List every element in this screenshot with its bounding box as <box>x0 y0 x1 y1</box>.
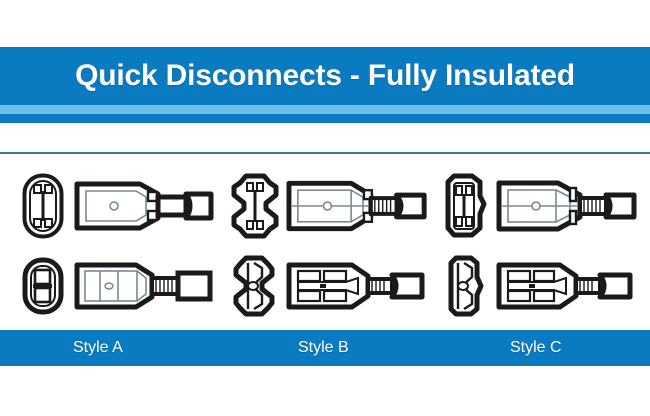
style-label-b: Style B <box>298 330 349 366</box>
figure-row-c-male <box>438 168 648 244</box>
style-column-c <box>438 154 648 330</box>
male-spade-side-view-icon <box>286 170 436 242</box>
figure-row-a-male <box>16 168 226 244</box>
oval-end-view-female-icon <box>16 250 70 322</box>
flanged-end-view-male-icon <box>438 170 492 242</box>
male-spade-side-view-icon <box>74 170 224 242</box>
figure-grid <box>0 154 650 330</box>
figure-row-b-male <box>228 168 438 244</box>
oval-end-view-male-icon <box>16 170 70 242</box>
waisted-end-view-female-icon <box>228 250 282 322</box>
footer-whitespace <box>0 366 650 416</box>
style-column-a <box>16 154 226 330</box>
figure-row-c-female <box>438 248 648 324</box>
style-column-b <box>228 154 438 330</box>
male-spade-side-view-icon <box>496 170 646 242</box>
header-stripe-dark <box>0 114 650 123</box>
style-label-c: Style C <box>510 330 562 366</box>
figure-row-a-female <box>16 248 226 324</box>
style-label-a: Style A <box>73 330 123 366</box>
female-receptacle-side-view-icon <box>74 250 224 322</box>
female-receptacle-side-view-icon <box>286 250 436 322</box>
figure-row-b-female <box>228 248 438 324</box>
header-stripe-light <box>0 105 650 114</box>
product-diagram-page: Quick Disconnects - Fully Insulated <box>0 0 650 416</box>
flanged-end-view-female-icon <box>438 250 492 322</box>
header-banner: Quick Disconnects - Fully Insulated <box>0 47 650 105</box>
style-label-bar: Style A Style B Style C <box>0 330 650 366</box>
waisted-end-view-male-icon <box>228 170 282 242</box>
page-title: Quick Disconnects - Fully Insulated <box>75 59 575 93</box>
female-receptacle-side-view-icon <box>496 250 646 322</box>
content-panel <box>0 154 650 330</box>
